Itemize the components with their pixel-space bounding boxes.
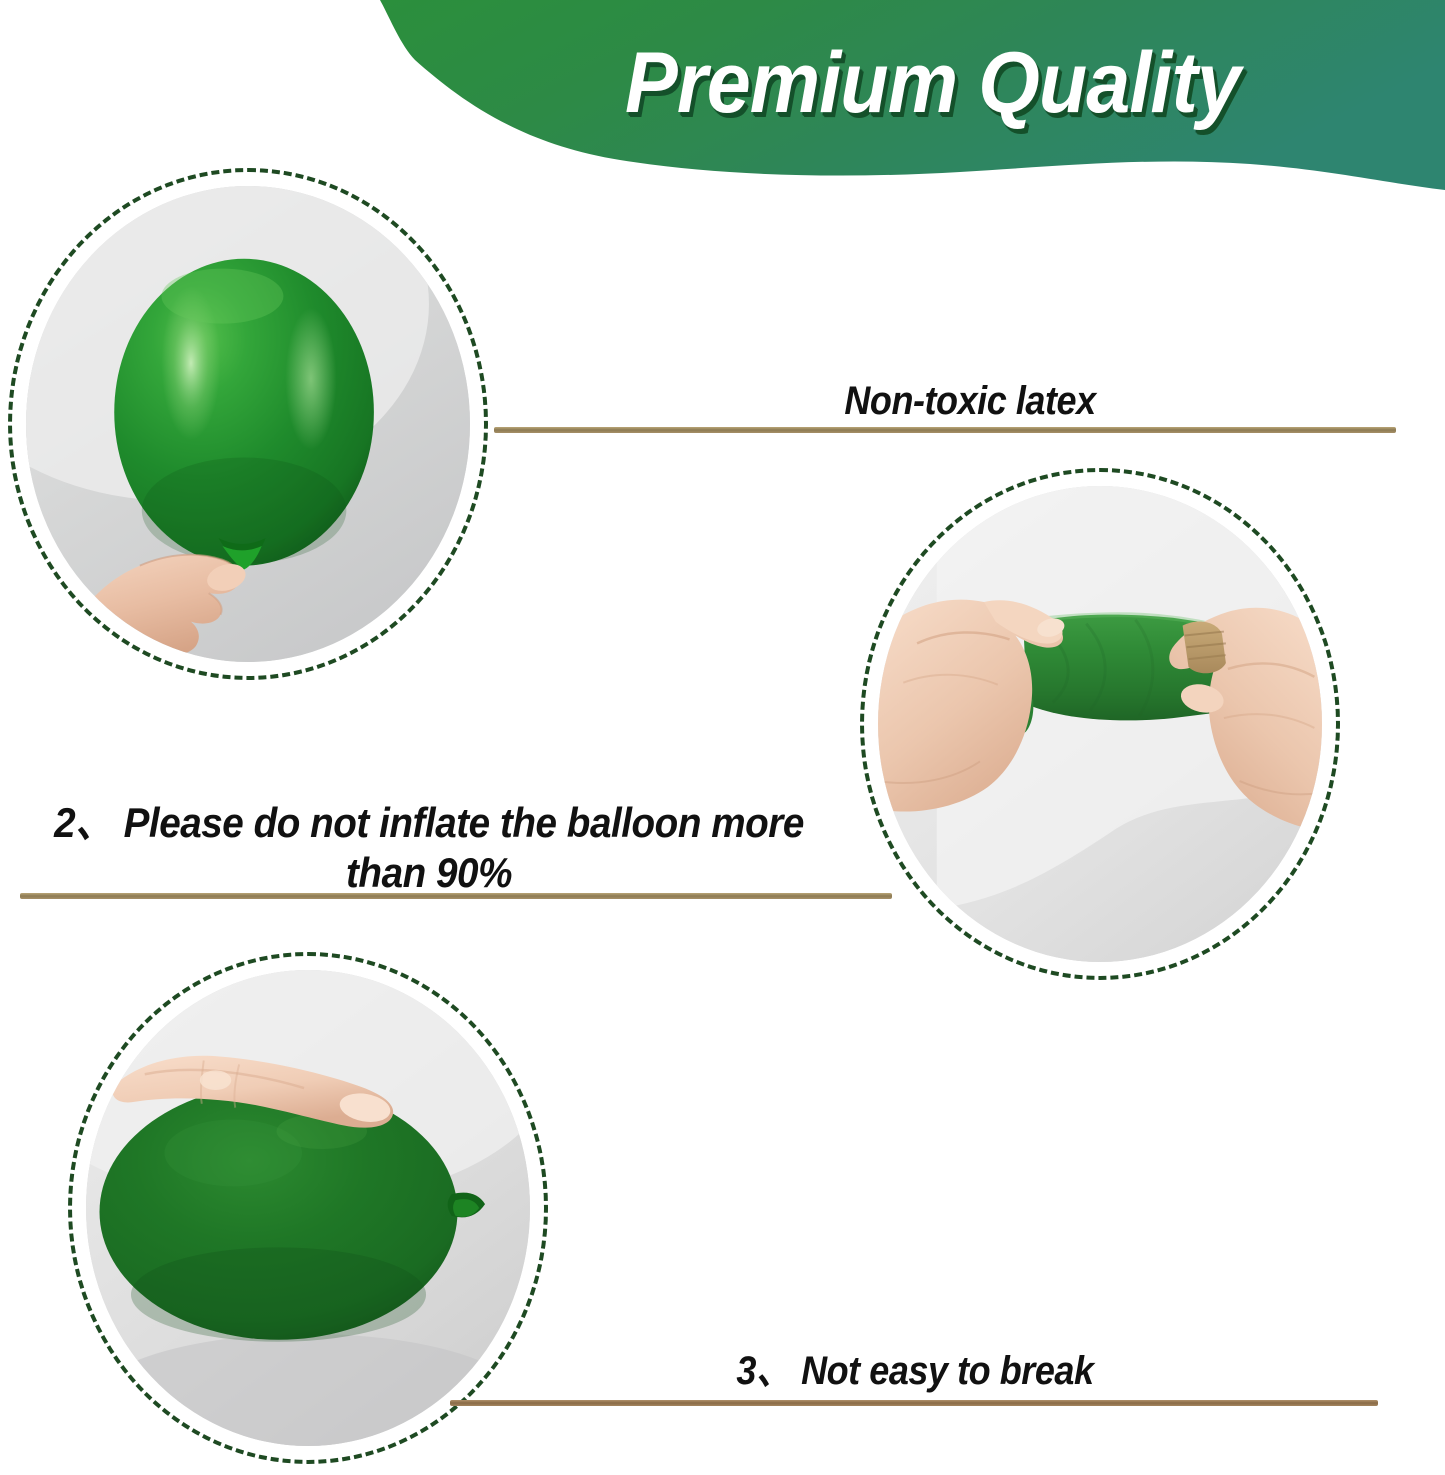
hand-holding-inflated-green-balloon [26, 186, 470, 662]
feature-1-caption: Non-toxic latex [565, 378, 1375, 425]
feature-photo-3-frame [68, 952, 548, 1464]
feature-1-connector-line [494, 427, 1396, 433]
feature-photo-1-frame [8, 168, 488, 680]
hand-pressing-flattened-green-balloon [86, 970, 530, 1446]
feature-2-caption: 2、 Please do not inflate the balloon mor… [47, 798, 811, 897]
product-infographic: Premium Quality [0, 0, 1445, 1475]
feature-3-caption: 3、 Not easy to break [501, 1348, 1329, 1395]
feature-3-connector-line [450, 1400, 1378, 1406]
feature-photo-2-frame [860, 468, 1340, 980]
two-hands-stretching-green-latex-strip [878, 486, 1322, 962]
